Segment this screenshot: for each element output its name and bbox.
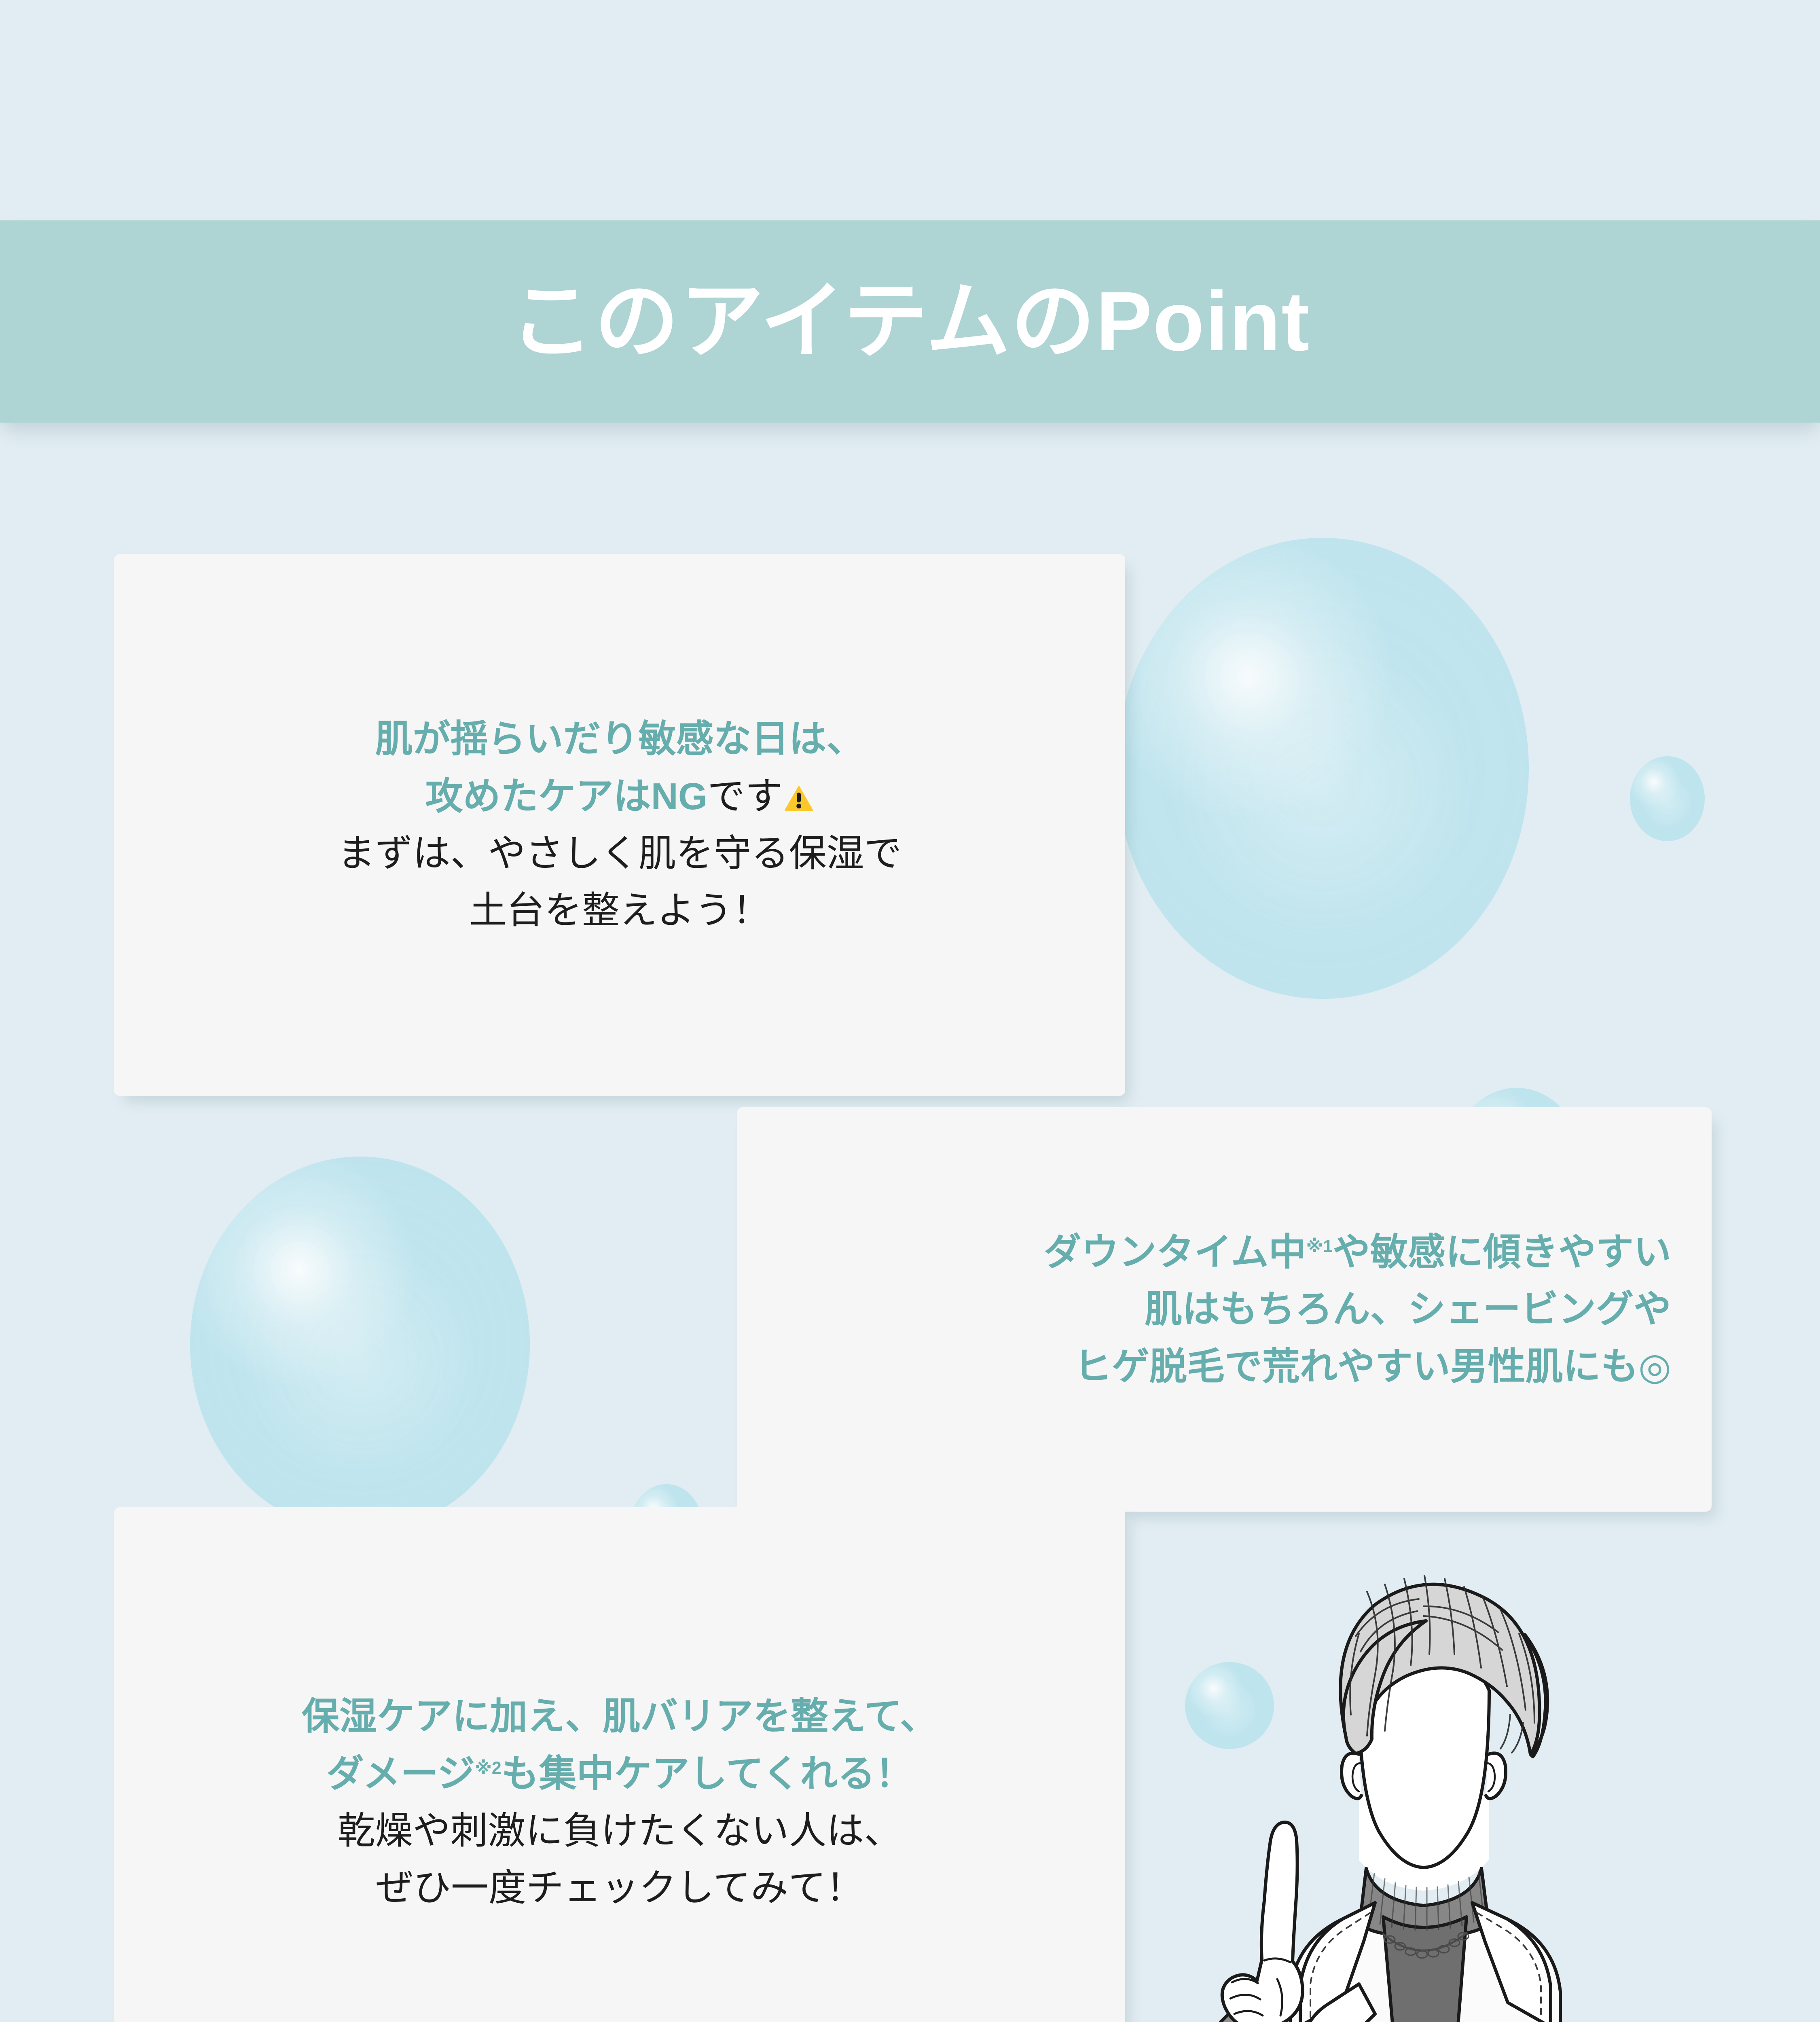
card-1-line-4: 土台を整えよう！: [469, 882, 770, 939]
point-section-page: このアイテムのPoint 肌が揺らいだり敏感な日は、 攻めたケアはNGです まず…: [0, 0, 1820, 2022]
man-pointing-up-illustration: [1116, 1512, 1646, 2022]
bubble-decoration-large-right: [1116, 538, 1529, 999]
card-1-line-3: まずは、やさしく肌を守る保湿で: [338, 825, 902, 882]
card-3-line-2-footnote-marker: ※2: [475, 1758, 501, 1778]
card-3-line-3: 乾燥や刺激に負けたくない人は、: [338, 1802, 902, 1859]
card-3-line-2-text: ダメージ: [326, 1753, 475, 1795]
card-2-line-1-text: ダウンタイム中: [1043, 1231, 1306, 1273]
card-2-line-2: 肌はもちろん、シェービングや: [1145, 1281, 1671, 1338]
card-1-line-1: 肌が揺らいだり敏感な日は、: [375, 711, 864, 768]
warning-triangle-icon: [784, 772, 814, 802]
card-3-line-1: 保湿ケアに加え、肌バリアを整えて、: [302, 1688, 938, 1745]
point-card-2: ダウンタイム中※1や敏感に傾きやすい 肌はもちろん、シェービングや ヒゲ脱毛で荒…: [737, 1107, 1712, 1512]
page-title: このアイテムのPoint: [510, 279, 1310, 364]
card-2-line-3: ヒゲ脱毛で荒れやすい男性肌にも◎: [1074, 1338, 1671, 1395]
point-card-3: 保湿ケアに加え、肌バリアを整えて、 ダメージ※2も集中ケアしてくれる！ 乾燥や刺…: [114, 1507, 1125, 2022]
card-1-line-2-tail: です: [707, 775, 783, 817]
card-3-line-2-tail: も集中ケアしてくれる！: [502, 1753, 913, 1795]
card-2-line-1: ダウンタイム中※1や敏感に傾きやすい: [1043, 1224, 1671, 1281]
card-1-line-2: 攻めたケアはNGです: [425, 768, 814, 825]
card-2-line-1-footnote-marker: ※1: [1306, 1237, 1333, 1256]
card-2-line-1-tail: や敏感に傾きやすい: [1333, 1231, 1671, 1273]
card-1-line-2-highlight: 攻めたケアはNG: [425, 775, 708, 817]
card-3-line-2: ダメージ※2も集中ケアしてくれる！: [326, 1745, 913, 1802]
bubble-decoration-large-left: [190, 1157, 530, 1533]
card-3-line-4: ぜひ一度チェックしてみて！: [376, 1859, 863, 1916]
point-card-1: 肌が揺らいだり敏感な日は、 攻めたケアはNGです まずは、やさしく肌を守る保湿で…: [114, 554, 1125, 1096]
section-header-band: このアイテムのPoint: [0, 220, 1820, 423]
bubble-decoration-small-right: [1630, 756, 1705, 841]
